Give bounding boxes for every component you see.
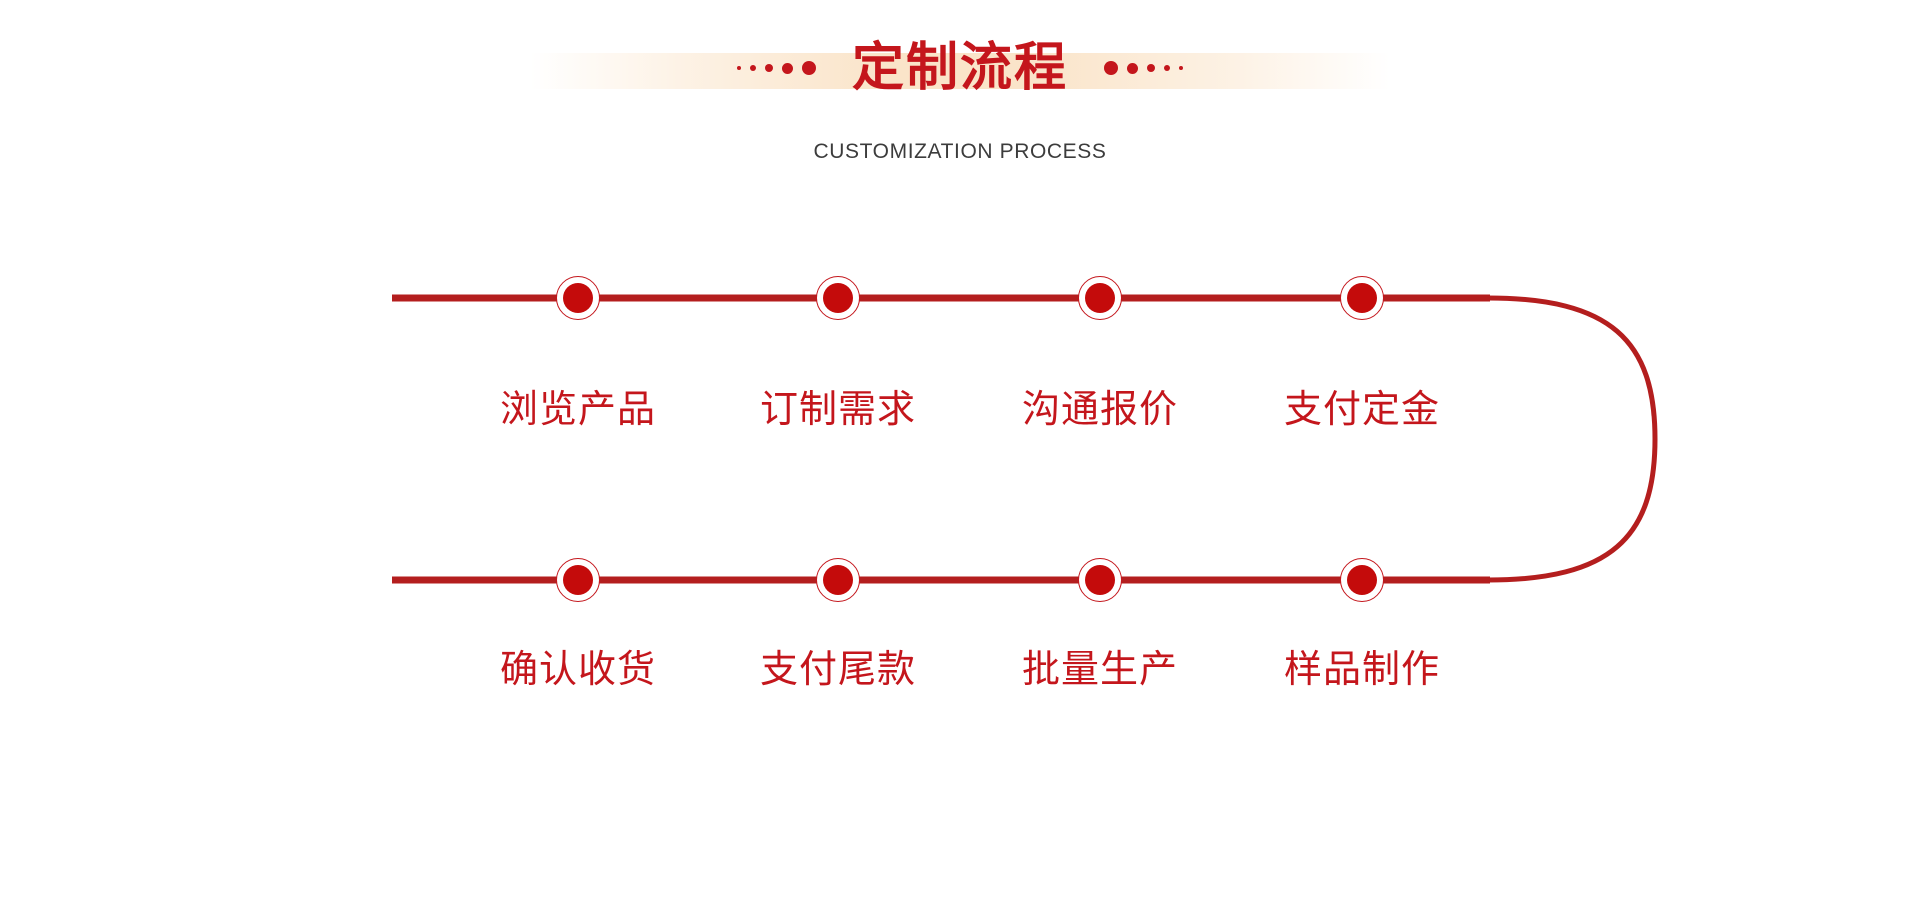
decorative-dot-3 bbox=[765, 64, 773, 72]
step-label-5: 样品制作 bbox=[1284, 650, 1440, 688]
left-dot-group bbox=[737, 58, 816, 78]
step-node-2[interactable] bbox=[816, 276, 860, 320]
step-label-1: 浏览产品 bbox=[500, 390, 656, 428]
step-node-8[interactable] bbox=[556, 558, 600, 602]
decorative-dot-5 bbox=[802, 61, 816, 75]
flow-connector-path bbox=[0, 200, 1920, 760]
decorative-dot-2 bbox=[750, 65, 756, 71]
decorative-dot-1 bbox=[737, 66, 741, 70]
decorative-dot-8 bbox=[1147, 64, 1155, 72]
step-label-7: 支付尾款 bbox=[760, 650, 916, 688]
decorative-dot-7 bbox=[1127, 63, 1138, 74]
right-dot-group bbox=[1104, 58, 1183, 78]
step-label-2: 订制需求 bbox=[760, 390, 916, 428]
step-node-5[interactable] bbox=[1340, 558, 1384, 602]
decorative-dot-6 bbox=[1104, 61, 1118, 75]
step-label-4: 支付定金 bbox=[1284, 390, 1440, 428]
step-node-6[interactable] bbox=[1078, 558, 1122, 602]
decorative-dot-4 bbox=[782, 63, 793, 74]
decorative-dot-10 bbox=[1179, 66, 1183, 70]
page-subtitle: CUSTOMIZATION PROCESS bbox=[0, 140, 1920, 164]
title-row: 定制流程 bbox=[737, 28, 1183, 108]
u-turn-connector bbox=[1488, 298, 1655, 580]
step-label-3: 沟通报价 bbox=[1022, 390, 1178, 428]
step-label-8: 确认收货 bbox=[500, 650, 656, 688]
step-node-7[interactable] bbox=[816, 558, 860, 602]
header: 定制流程 CUSTOMIZATION PROCESS bbox=[0, 0, 1920, 200]
step-node-4[interactable] bbox=[1340, 276, 1384, 320]
process-flow: 浏览产品 订制需求 沟通报价 支付定金 确认收货 支付尾款 批量生产 样品制作 bbox=[0, 200, 1920, 760]
step-label-6: 批量生产 bbox=[1022, 650, 1178, 688]
step-node-1[interactable] bbox=[556, 276, 600, 320]
customization-process-infographic: 定制流程 CUSTOMIZATION PROCESS 浏览产 bbox=[0, 0, 1920, 897]
decorative-dot-9 bbox=[1164, 65, 1170, 71]
page-title: 定制流程 bbox=[846, 42, 1074, 94]
step-node-3[interactable] bbox=[1078, 276, 1122, 320]
